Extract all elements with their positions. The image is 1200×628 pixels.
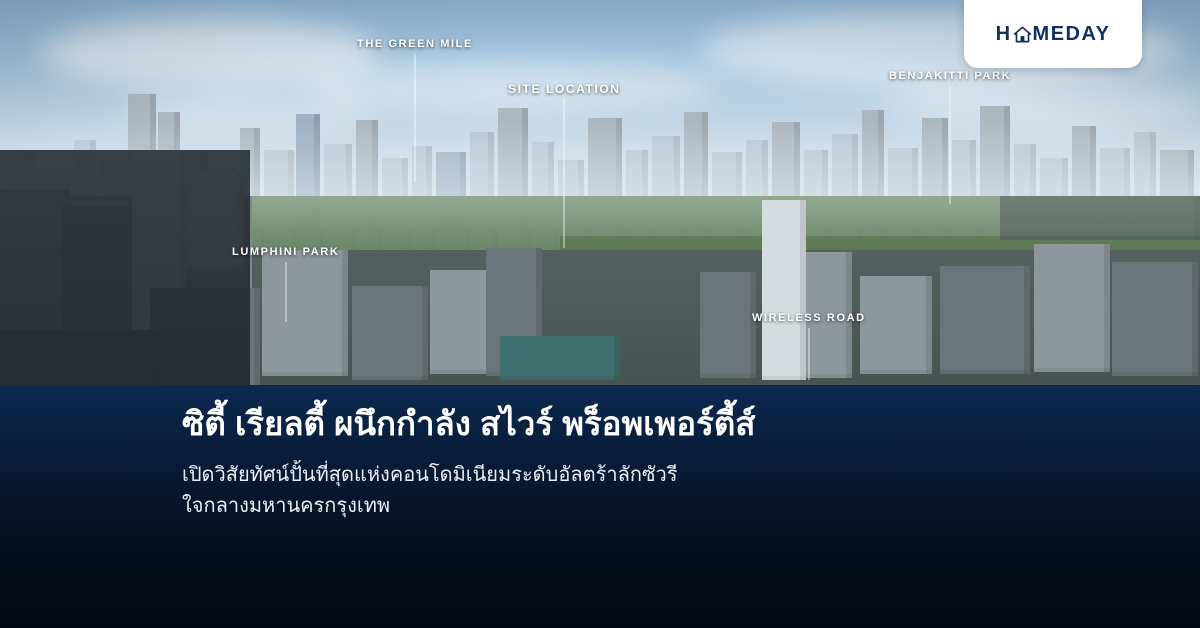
promo-banner: THE GREEN MILE SITE LOCATION BENJAKITTI … [0,0,1200,628]
map-label-site-location: SITE LOCATION [508,82,621,96]
homeday-logo[interactable]: H MEDAY [964,0,1142,68]
pin-stem [950,86,951,204]
map-label-text: WIRELESS ROAD [752,312,866,324]
logo-wordmark: H MEDAY [996,23,1111,46]
building [1000,196,1200,240]
caption-bar: ซิตี้ เรียลตี้ ผนึกกำลัง สไวร์ พร็อพเพอร… [0,385,1200,628]
building [860,276,932,374]
map-label-text: BENJAKITTI PARK [889,70,1011,82]
building [1112,262,1198,376]
building [352,286,428,380]
subheadline-line-2: ใจกลางมหานครกรุงเทพ [182,491,1160,522]
pin-stem [414,54,415,182]
subheadline-line-1: เปิดวิสัยทัศน์ปั้นที่สุดแห่งคอนโดมิเนียม… [182,460,1160,491]
building [1034,244,1110,372]
building [262,250,348,376]
map-label-text: THE GREEN MILE [357,38,473,50]
logo-text-before: H [996,23,1012,46]
map-label-the-green-mile: THE GREEN MILE [357,38,473,50]
map-label-text: SITE LOCATION [508,82,621,96]
building [700,272,756,378]
building [940,266,1030,374]
pin-stem [808,328,809,380]
logo-text-after: MEDAY [1033,23,1111,46]
pin-stem [285,262,286,322]
map-label-benjakitti-park: BENJAKITTI PARK [889,70,1011,82]
headline: ซิตี้ เรียลตี้ ผนึกกำลัง สไวร์ พร็อพเพอร… [182,403,1160,444]
caption-content: ซิตี้ เรียลตี้ ผนึกกำลัง สไวร์ พร็อพเพอร… [182,403,1160,522]
map-label-text: LUMPHINI PARK [232,246,339,258]
building [762,200,806,380]
map-label-lumphini-park: LUMPHINI PARK [232,246,339,258]
pin-stem [564,98,565,248]
house-icon [1013,25,1032,44]
map-label-wireless-road: WIRELESS ROAD [752,312,866,324]
building [500,336,620,380]
